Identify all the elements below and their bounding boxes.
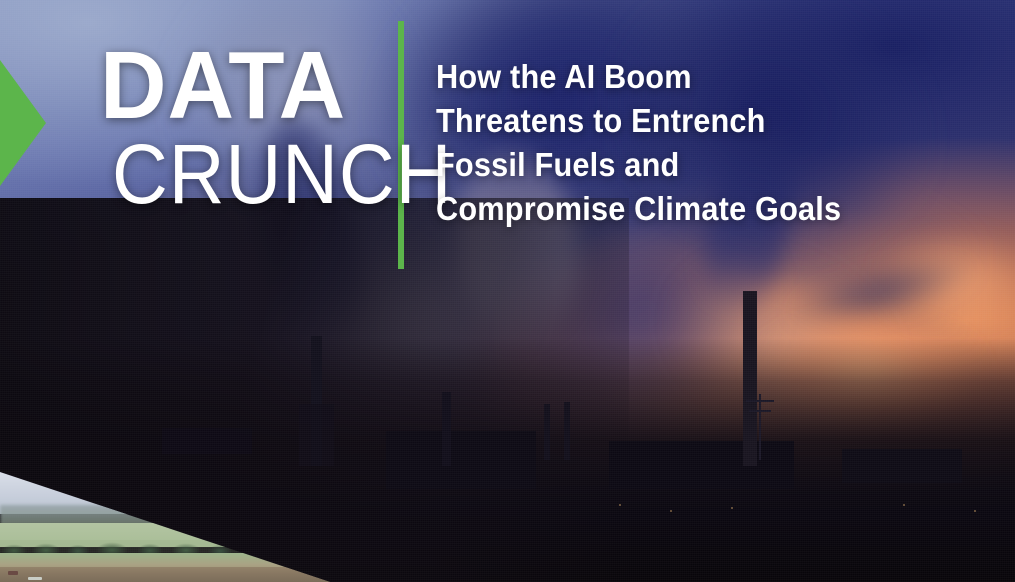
power-pylon <box>759 394 761 460</box>
logo-word-data: DATA <box>100 42 369 130</box>
industrial-building-1 <box>386 431 536 489</box>
logo-word-crunch: CRUNCH <box>112 132 359 216</box>
inset-plowed-field <box>0 567 340 582</box>
headline: How the AI Boom Threatens to Entrench Fo… <box>436 55 896 231</box>
data-crunch-banner: DATA CRUNCH How the AI Boom Threatens to… <box>0 0 1015 582</box>
smokestack-middle <box>442 392 451 466</box>
headline-line-1: How the AI Boom <box>436 55 864 99</box>
headline-line-2: Threatens to Entrench <box>436 99 864 143</box>
headline-line-4: Compromise Climate Goals <box>436 187 864 231</box>
inset-vehicle-2 <box>28 577 42 580</box>
chevron-right-arrow-icon <box>0 60 46 186</box>
industrial-building-2 <box>609 441 794 489</box>
inset-vehicle-1 <box>8 571 18 575</box>
smokestack-left <box>311 336 322 466</box>
headline-line-3: Fossil Fuels and <box>436 143 864 187</box>
smokestack-thin-2 <box>564 402 570 460</box>
smokestack-right <box>743 291 757 466</box>
industrial-building-3 <box>842 449 962 483</box>
smokestack-thin-1 <box>544 404 550 460</box>
series-logo: DATA CRUNCH <box>100 42 380 216</box>
industrial-building-4 <box>162 428 252 454</box>
